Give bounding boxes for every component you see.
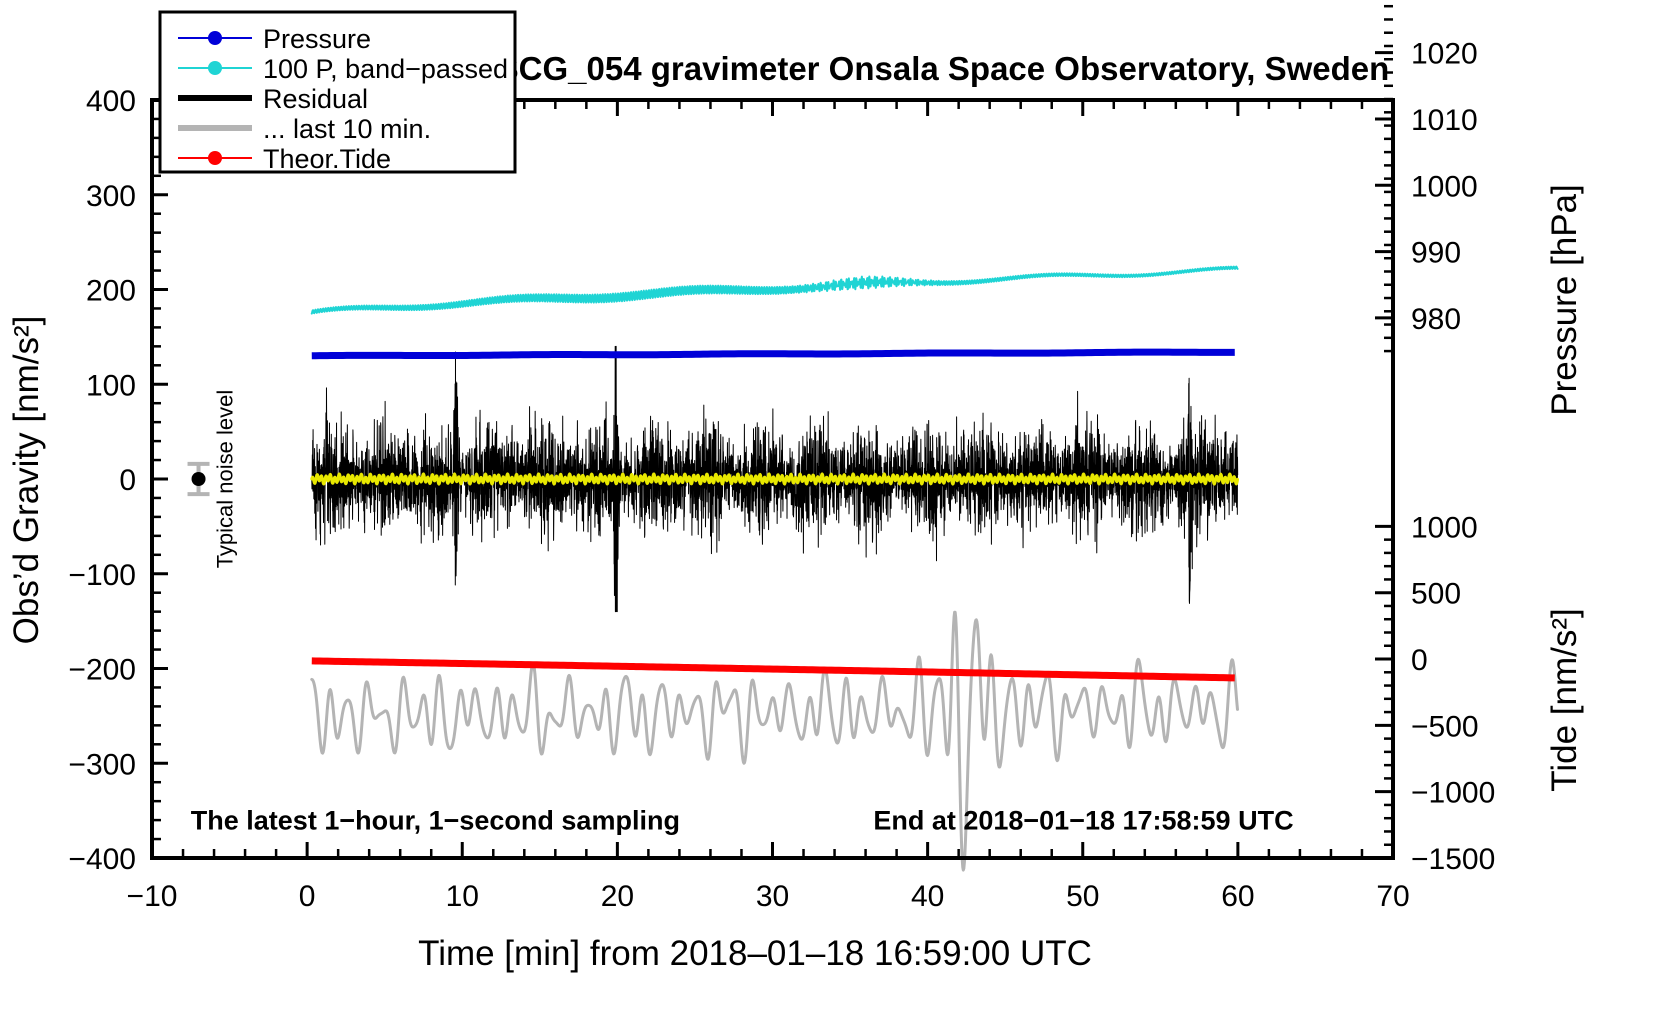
legend-item-label: Residual bbox=[263, 84, 368, 114]
end-time-note: End at 2018−01−18 17:58:59 UTC bbox=[873, 806, 1293, 836]
y-tick-label: −300 bbox=[68, 748, 136, 781]
x-tick-label: 30 bbox=[756, 880, 789, 913]
legend-marker-icon bbox=[208, 61, 222, 75]
y-tick-label: 400 bbox=[86, 85, 136, 118]
tide-tick-label: −1500 bbox=[1411, 843, 1495, 876]
pressure-tick-label: 1000 bbox=[1411, 170, 1478, 203]
y-tick-label: −400 bbox=[68, 843, 136, 876]
y-tick-label: 200 bbox=[86, 275, 136, 308]
tide-tick-label: 1000 bbox=[1411, 511, 1478, 544]
series-pressure bbox=[312, 352, 1235, 356]
x-tick-label: 40 bbox=[911, 880, 944, 913]
pressure-tick-label: 990 bbox=[1411, 237, 1461, 270]
page-title: SCG_054 gravimeter Onsala Space Observat… bbox=[497, 50, 1390, 87]
y-tick-label: −100 bbox=[68, 559, 136, 592]
pressure-tick-label: 1010 bbox=[1411, 104, 1478, 137]
figure-canvas: −10010203040506070−400−300−200−100010020… bbox=[0, 0, 1660, 1020]
x-tick-label: 70 bbox=[1376, 880, 1409, 913]
x-tick-label: 60 bbox=[1221, 880, 1254, 913]
gravimeter-chart: −10010203040506070−400−300−200−100010020… bbox=[0, 0, 1660, 1020]
legend-item-label: Pressure bbox=[263, 24, 371, 54]
noise-errorbar-point bbox=[192, 472, 206, 486]
x-tick-label: −10 bbox=[127, 880, 178, 913]
legend-item-label: 100 P, band−passed bbox=[263, 54, 508, 84]
right-axis-title-pressure: Pressure [hPa] bbox=[1545, 184, 1584, 416]
sampling-note: The latest 1−hour, 1−second sampling bbox=[191, 806, 680, 836]
legend-item-label: ... last 10 min. bbox=[263, 114, 431, 144]
x-tick-label: 20 bbox=[601, 880, 634, 913]
tide-tick-label: 500 bbox=[1411, 578, 1461, 611]
y-tick-label: 300 bbox=[86, 180, 136, 213]
tide-tick-label: −500 bbox=[1411, 710, 1479, 743]
tide-tick-label: −1000 bbox=[1411, 777, 1495, 810]
right-axis-title-tide: Tide [nm/s²] bbox=[1545, 608, 1584, 791]
pressure-tick-label: 1030 bbox=[1411, 0, 1478, 4]
y-axis-title: Obs’d Gravity [nm/s²] bbox=[7, 316, 46, 645]
legend: Pressure100 P, band−passedResidual... la… bbox=[160, 12, 515, 174]
x-axis-title: Time [min] from 2018–01–18 16:59:00 UTC bbox=[418, 934, 1092, 973]
legend-marker-icon bbox=[208, 31, 222, 45]
y-tick-label: 0 bbox=[119, 464, 136, 497]
noise-bar-label: Typical noise level bbox=[213, 390, 238, 569]
legend-item-label: Theor.Tide bbox=[263, 144, 391, 174]
x-tick-label: 10 bbox=[446, 880, 479, 913]
x-tick-label: 50 bbox=[1066, 880, 1099, 913]
x-tick-label: 0 bbox=[299, 880, 316, 913]
y-tick-label: −200 bbox=[68, 654, 136, 687]
y-tick-label: 100 bbox=[86, 369, 136, 402]
tide-tick-label: 0 bbox=[1411, 644, 1428, 677]
legend-marker-icon bbox=[208, 151, 222, 165]
pressure-tick-label: 980 bbox=[1411, 303, 1461, 336]
pressure-tick-label: 1020 bbox=[1411, 38, 1478, 71]
